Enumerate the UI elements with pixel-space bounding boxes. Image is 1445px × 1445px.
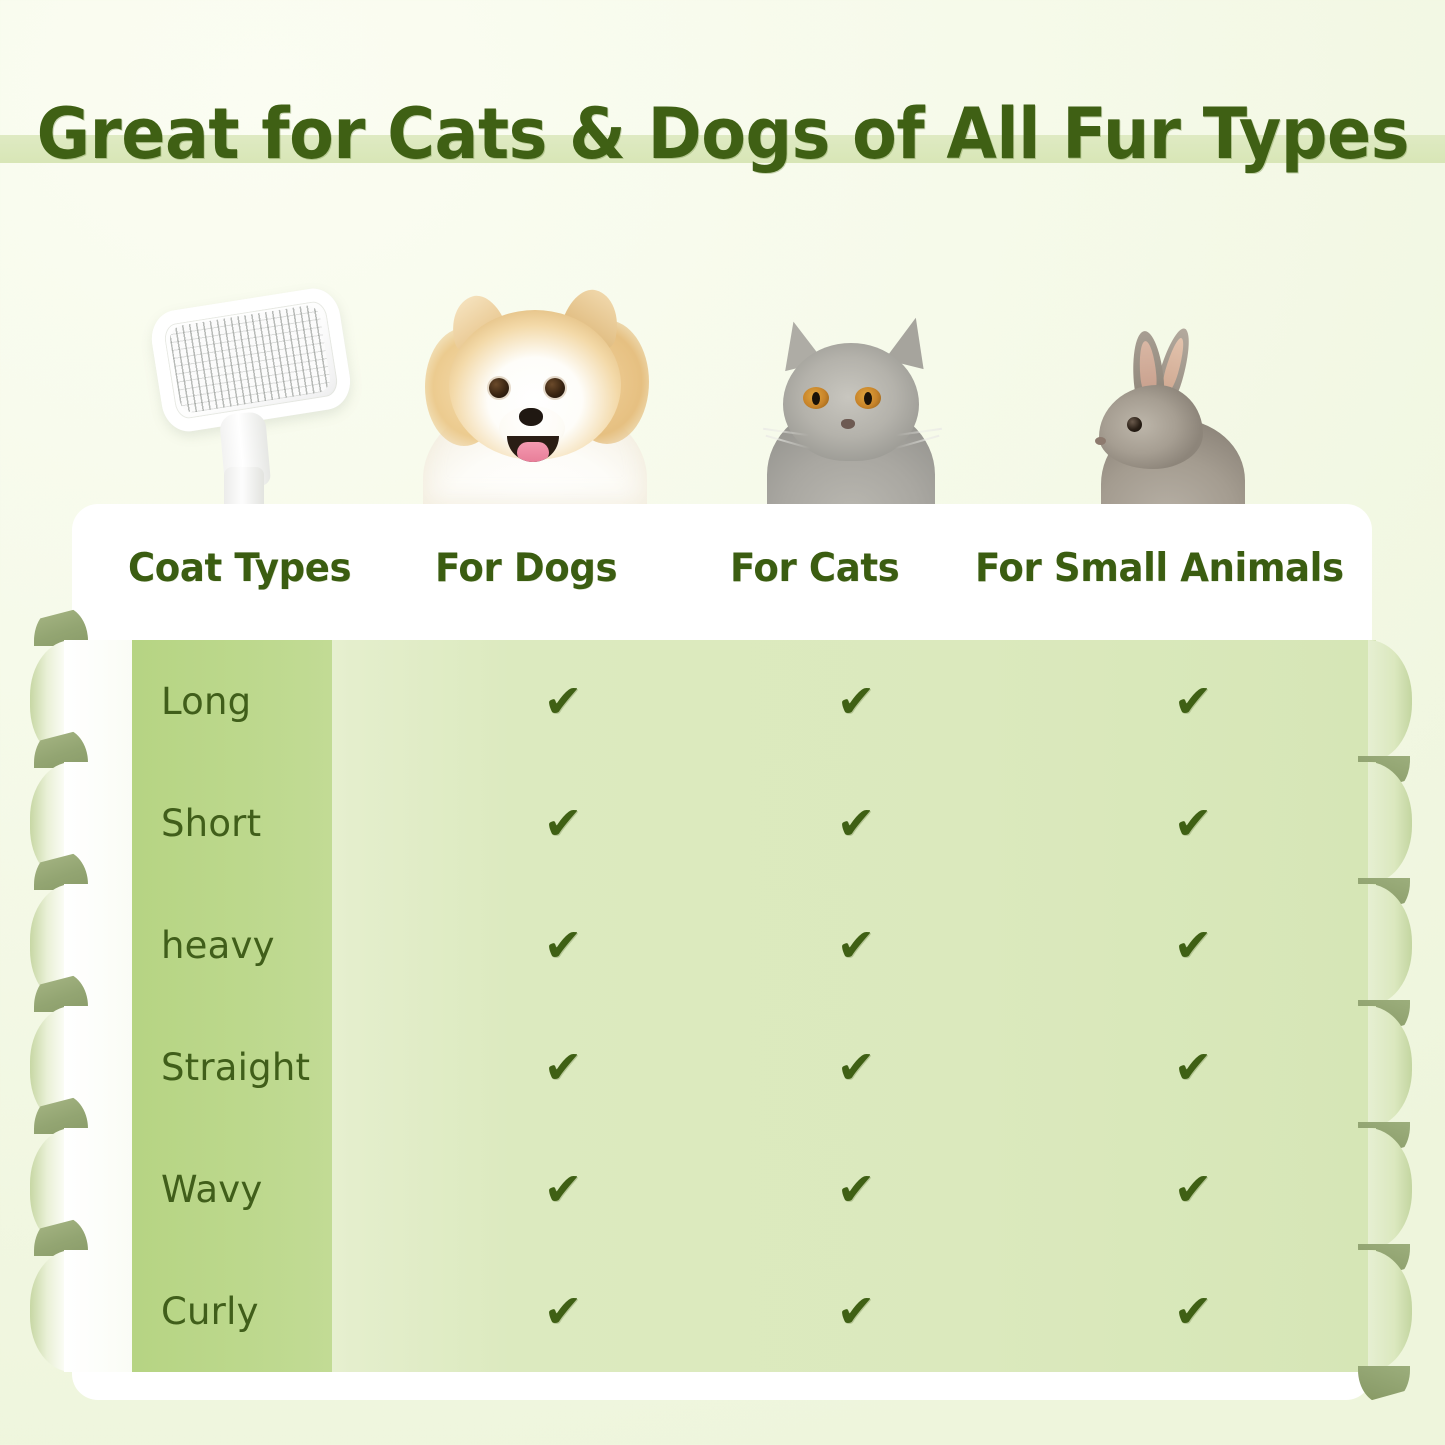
table-row: Long ✔ ✔ ✔ bbox=[30, 640, 1412, 762]
check-wavy-dogs: ✔ bbox=[533, 1128, 593, 1250]
check-straight-dogs: ✔ bbox=[533, 1006, 593, 1128]
row-label-wavy: Wavy bbox=[161, 1128, 262, 1250]
check-straight-small-animals: ✔ bbox=[1163, 1006, 1223, 1128]
check-long-cats: ✔ bbox=[826, 640, 886, 762]
check-wavy-small-animals: ✔ bbox=[1163, 1128, 1223, 1250]
ribbon-right-fold-tab bbox=[1358, 1366, 1410, 1404]
check-short-small-animals: ✔ bbox=[1163, 762, 1223, 884]
check-heavy-small-animals: ✔ bbox=[1163, 884, 1223, 1006]
table-row: Curly ✔ ✔ ✔ bbox=[30, 1250, 1412, 1372]
row-label-straight: Straight bbox=[161, 1006, 310, 1128]
table-rows: Long ✔ ✔ ✔ Short ✔ ✔ ✔ heavy ✔ ✔ ✔ Strai… bbox=[0, 0, 1445, 1445]
table-row: heavy ✔ ✔ ✔ bbox=[30, 884, 1412, 1006]
row-label-long: Long bbox=[161, 640, 251, 762]
table-row: Straight ✔ ✔ ✔ bbox=[30, 1006, 1412, 1128]
row-label-short: Short bbox=[161, 762, 261, 884]
check-heavy-dogs: ✔ bbox=[533, 884, 593, 1006]
row-label-curly: Curly bbox=[161, 1250, 259, 1372]
ribbon-right-fold bbox=[1368, 1006, 1412, 1128]
table-row: Wavy ✔ ✔ ✔ bbox=[30, 1128, 1412, 1250]
check-curly-small-animals: ✔ bbox=[1163, 1250, 1223, 1372]
check-curly-cats: ✔ bbox=[826, 1250, 886, 1372]
ribbon-right-fold bbox=[1368, 884, 1412, 1006]
check-long-small-animals: ✔ bbox=[1163, 640, 1223, 762]
check-long-dogs: ✔ bbox=[533, 640, 593, 762]
check-short-dogs: ✔ bbox=[533, 762, 593, 884]
check-curly-dogs: ✔ bbox=[533, 1250, 593, 1372]
check-straight-cats: ✔ bbox=[826, 1006, 886, 1128]
row-label-heavy: heavy bbox=[161, 884, 275, 1006]
ribbon-right-fold bbox=[1368, 640, 1412, 762]
ribbon-right-fold bbox=[1368, 1250, 1412, 1372]
check-short-cats: ✔ bbox=[826, 762, 886, 884]
check-heavy-cats: ✔ bbox=[826, 884, 886, 1006]
check-wavy-cats: ✔ bbox=[826, 1128, 886, 1250]
ribbon-right-fold bbox=[1368, 762, 1412, 884]
ribbon-right-fold bbox=[1368, 1128, 1412, 1250]
table-row: Short ✔ ✔ ✔ bbox=[30, 762, 1412, 884]
